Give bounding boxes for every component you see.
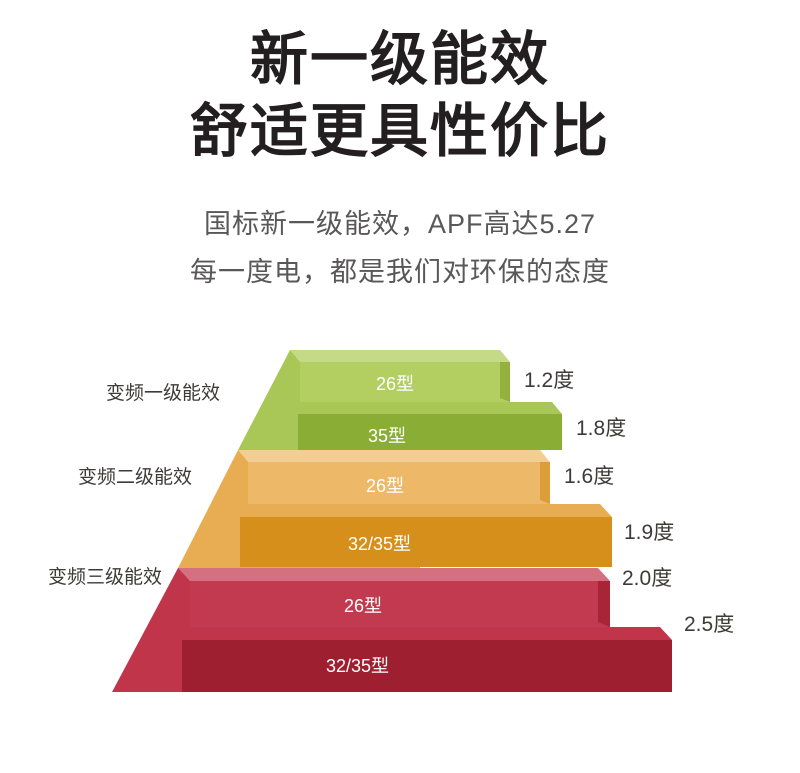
subheadline-line-2: 每一度电，都是我们对环保的态度 [0,248,800,296]
tier3-bar1-top [178,568,610,581]
tier3-bar2-top [170,627,672,640]
bar-model-tier1-1: 26型 [376,370,414,396]
bar-model-tier2-1: 26型 [366,472,404,498]
headline-block: 新一级能效 舒适更具性价比 [0,24,800,168]
headline-line-2: 舒适更具性价比 [0,96,800,168]
headline-line-1: 新一级能效 [0,24,800,96]
tier1-bar2-top [288,402,562,414]
bar-model-tier1-2: 35型 [368,422,406,448]
subheadline-block: 国标新一级能效，APF高达5.27 每一度电，都是我们对环保的态度 [0,200,800,296]
tier2-bar2-body [240,517,612,567]
tier3-bar2-body [182,640,672,692]
tier3-bar1-side [598,581,610,627]
tier2-bar1-top [238,450,550,462]
bar-model-tier3-1: 26型 [344,592,382,618]
tier2-bar1-side [540,462,550,504]
tier1-bar1-top [290,350,510,362]
tier-label-2: 变频二级能效 [78,462,192,489]
infographic-page: 新一级能效 舒适更具性价比 国标新一级能效，APF高达5.27 每一度电，都是我… [0,0,800,773]
bar-value-tier2-2: 1.9度 [624,516,674,546]
bar-value-tier3-2: 2.5度 [684,608,734,638]
tier2-bar2-top [228,504,612,517]
tier1-bar1-side [500,362,510,402]
subheadline-line-1: 国标新一级能效，APF高达5.27 [0,200,800,248]
bar-model-tier3-2: 32/35型 [326,652,389,678]
bar-value-tier1-2: 1.8度 [576,412,626,442]
bar-model-tier2-2: 32/35型 [348,530,411,556]
tier1-bar2-body [298,414,562,450]
tier-label-1: 变频一级能效 [106,378,220,405]
bar-value-tier1-1: 1.2度 [524,364,574,394]
tier-label-3: 变频三级能效 [48,562,162,589]
efficiency-pyramid-chart: 变频一级能效 变频二级能效 变频三级能效 26型 35型 26型 32/35型 … [0,340,800,700]
tier3-bar1-body [190,581,610,627]
bar-value-tier2-1: 1.6度 [564,460,614,490]
bar-value-tier3-1: 2.0度 [622,562,672,592]
